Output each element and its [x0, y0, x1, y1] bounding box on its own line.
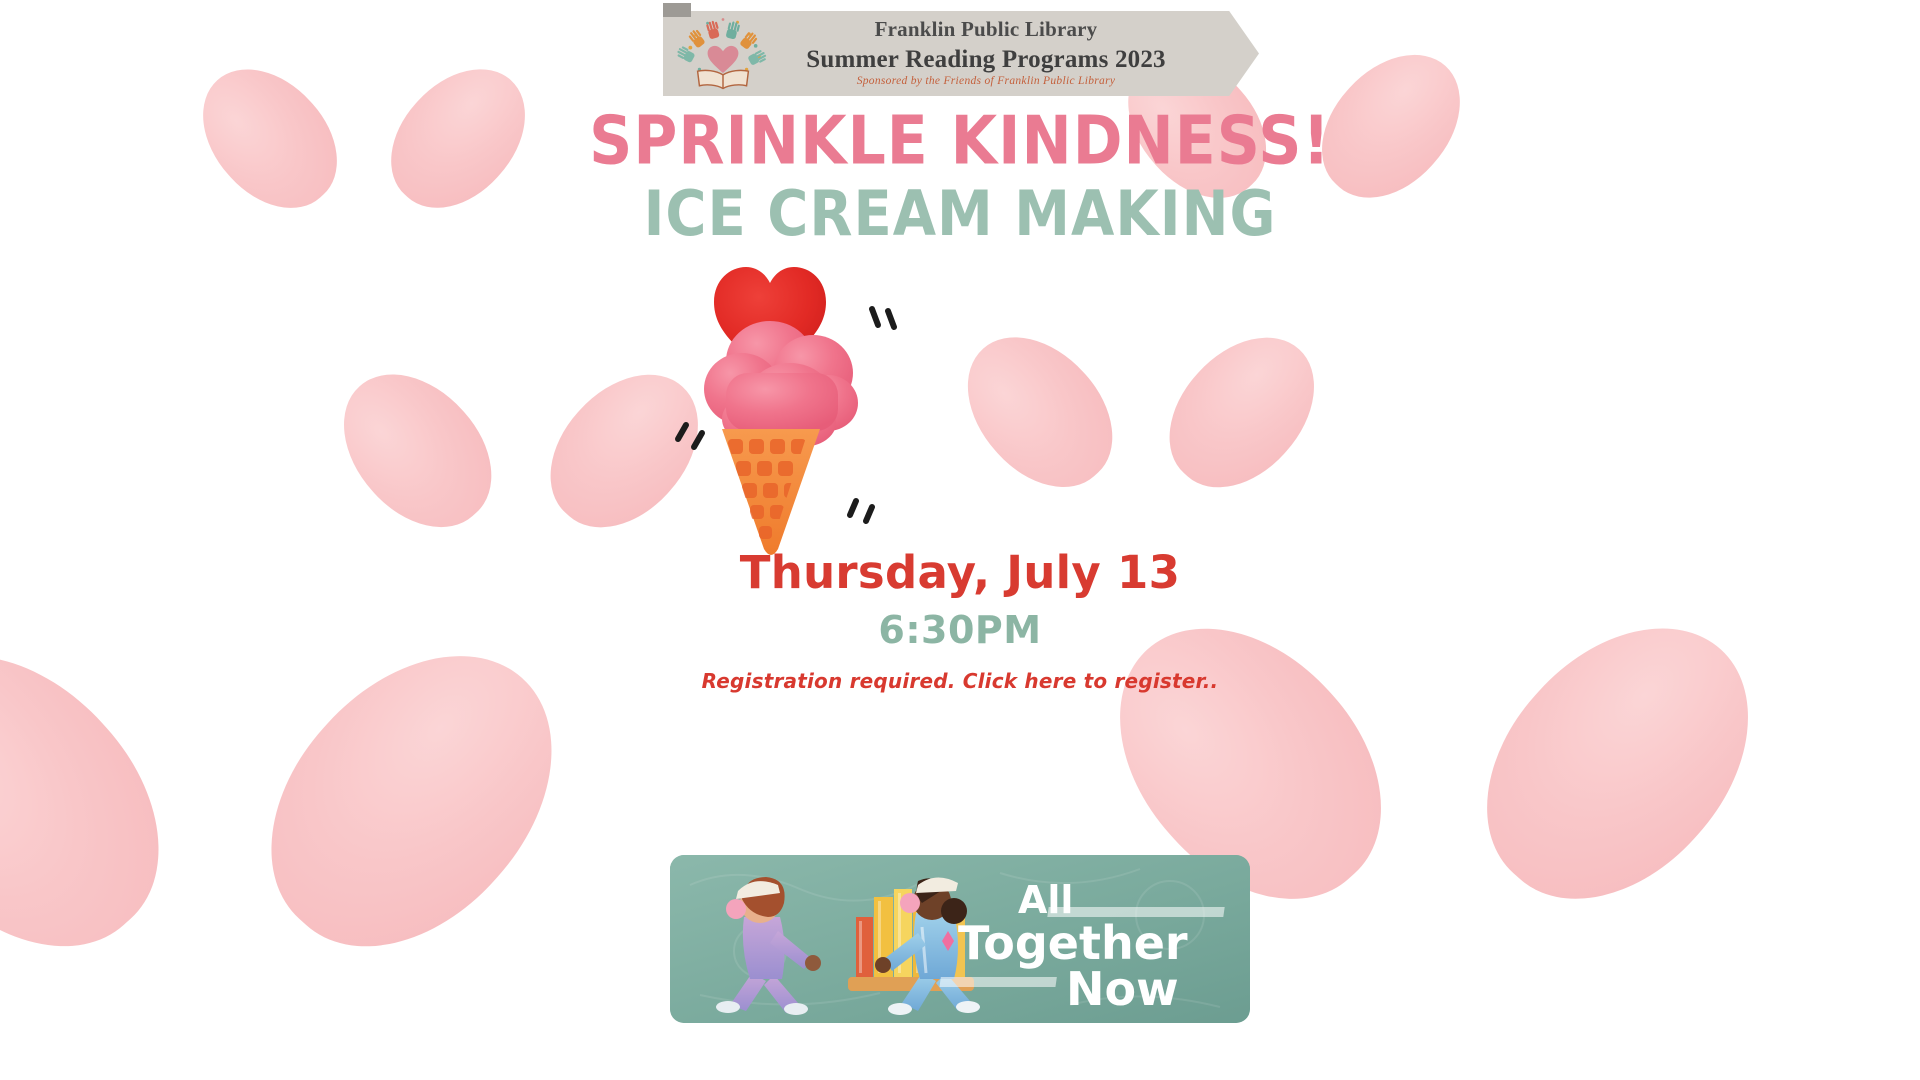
hands-heart-book-icon: [677, 15, 769, 93]
poster-canvas: Franklin Public Library Summer Reading P…: [0, 0, 1920, 1080]
all-together-now-banner-icon[interactable]: All Together Now: [670, 855, 1250, 1023]
library-name: Franklin Public Library: [769, 19, 1203, 40]
page-title: SPRINKLE KINDNESS!: [0, 102, 1920, 180]
event-date: Thursday, July 13: [0, 546, 1920, 599]
event-time: 6:30PM: [0, 608, 1920, 652]
program-name: Summer Reading Programs 2023: [769, 47, 1203, 72]
background-heart: [405, 318, 637, 528]
background-heart: [1028, 282, 1254, 488]
sponsor-text: Sponsored by the Friends of Franklin Pub…: [769, 76, 1203, 88]
ice-cream-cone-with-heart-icon: [650, 243, 920, 563]
registration-link[interactable]: Registration required. Click here to reg…: [0, 669, 1920, 693]
page-subtitle: ICE CREAM MAKING: [0, 178, 1920, 251]
header-ribbon: Franklin Public Library Summer Reading P…: [663, 3, 1259, 96]
banner-line-3: Now: [1066, 962, 1179, 1016]
